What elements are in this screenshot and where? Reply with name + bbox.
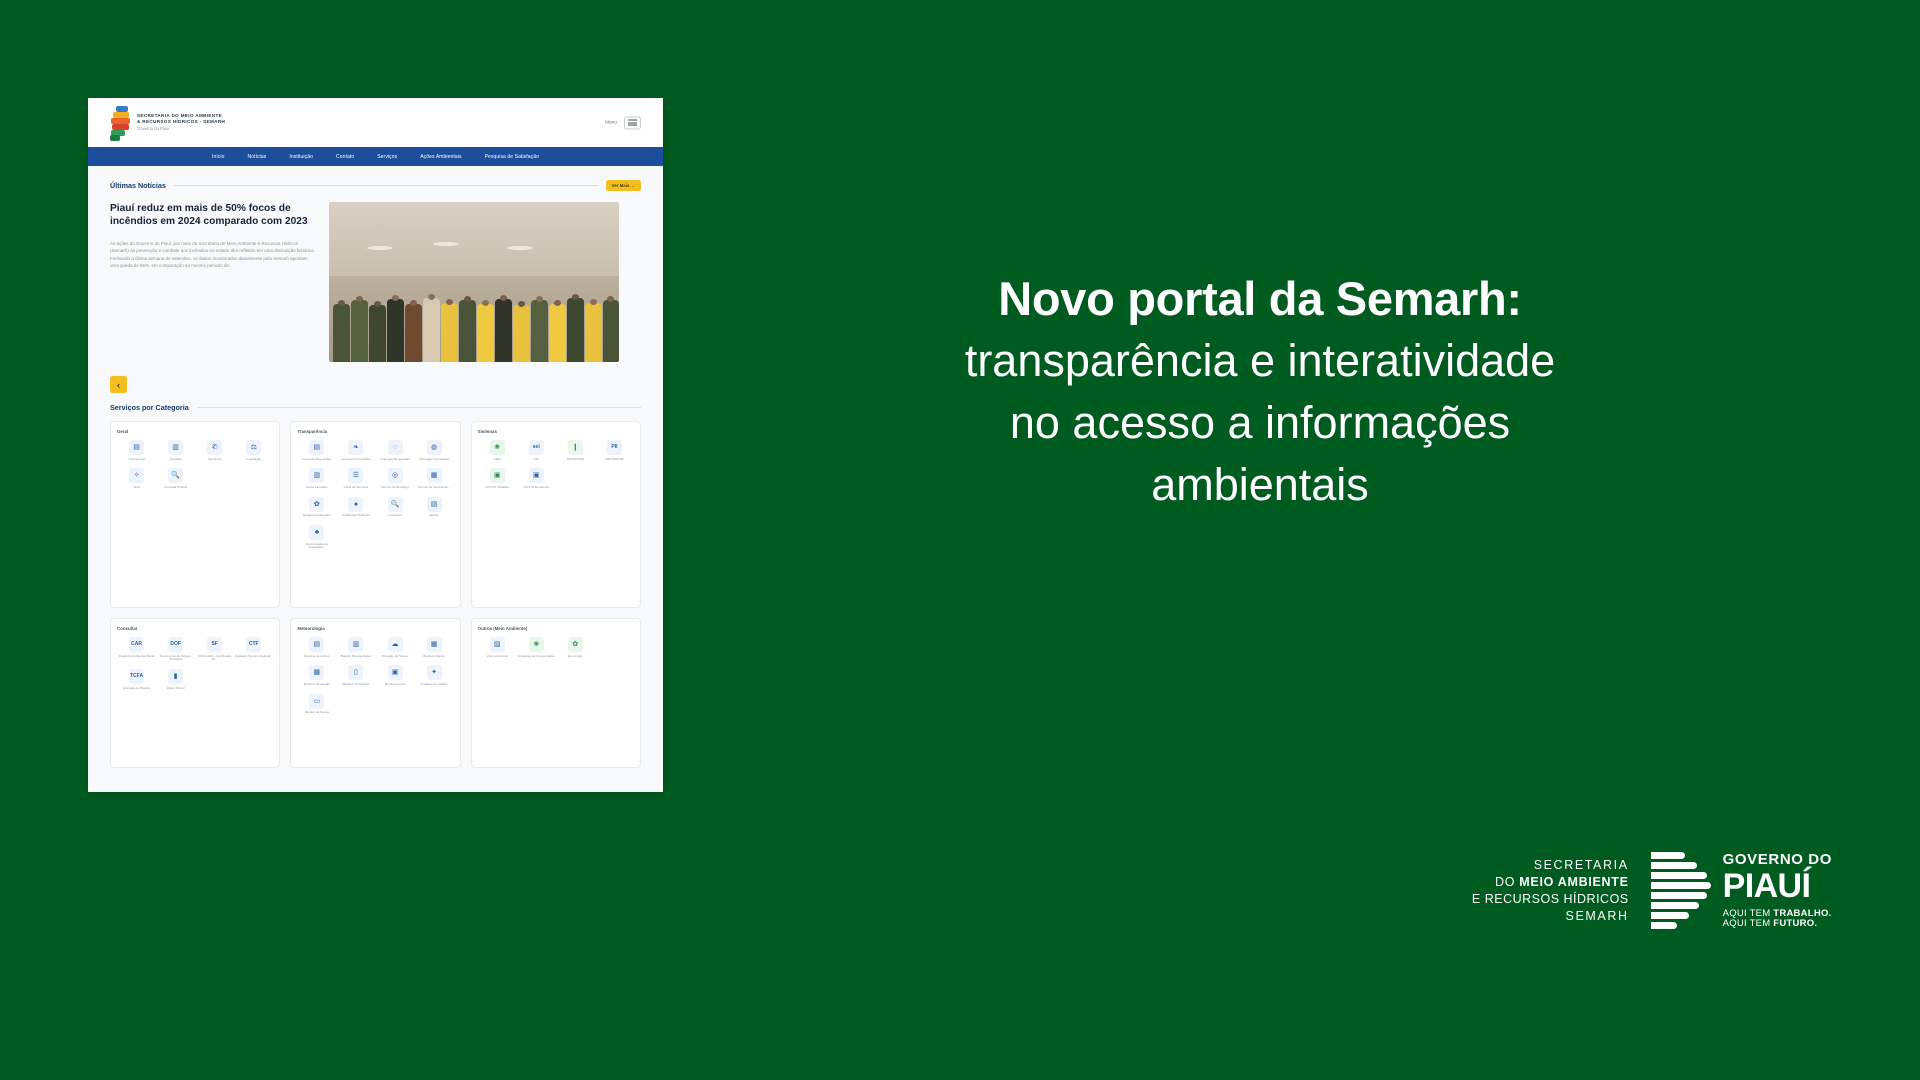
- tcfa-icon: TCFA: [129, 669, 144, 684]
- service-label: Diário Oficial: [156, 687, 195, 691]
- service-label: Licenças Requeridas: [297, 458, 336, 462]
- nav-item-pesquisa-satisfacao[interactable]: Pesquisa de Satisfação: [485, 154, 539, 160]
- service-label: Licitações: [375, 514, 414, 518]
- service-item[interactable]: ▯Boletins Trimestrais: [336, 665, 375, 686]
- car-icon: CAR: [129, 637, 144, 652]
- nav-item-inicio[interactable]: Início: [212, 154, 225, 160]
- nav-item-instituicao[interactable]: Instituição: [289, 154, 313, 160]
- gov-citizen-icon: ▣: [490, 468, 505, 483]
- services-section-title: Serviços por Categoria: [110, 403, 189, 412]
- map-icon: ▨: [490, 637, 505, 652]
- news-photo-crowd: [329, 269, 619, 362]
- category-title: Transparência: [297, 429, 453, 434]
- service-label: Zolo Ambiental: [478, 655, 517, 659]
- service-label: Estudos Ambientais: [297, 514, 336, 518]
- calendar-icon: ▦: [427, 637, 442, 652]
- category-title: Consultar: [117, 626, 273, 631]
- eco-friend-icon: ✿: [568, 637, 583, 652]
- service-list: ▤Licenças Requeridas ❧Licenças Concedida…: [297, 440, 453, 557]
- gov-line-4-bold: FUTURO.: [1773, 918, 1817, 929]
- service-label: Imagens de satélite: [415, 683, 454, 687]
- globe-icon: ✿: [309, 497, 324, 512]
- service-label: Outorgas Concedidas: [415, 458, 454, 462]
- service-label: Audiências Públicas: [336, 514, 375, 518]
- news-excerpt: As ações do Governo do Piauí, por meio d…: [110, 240, 315, 269]
- service-item[interactable]: ▤Editais: [415, 497, 454, 518]
- list-icon: ☰: [348, 468, 363, 483]
- services-row-1: Geral ▤Institucional ▥Notícias ✆Ouvidori…: [110, 421, 641, 608]
- monitor-icon: ▣: [388, 665, 403, 680]
- service-label: Legislação: [234, 458, 273, 462]
- headline-line-1: Novo portal da Semarh:: [700, 268, 1820, 330]
- headline-line-2: transparência e interatividade: [700, 330, 1820, 392]
- service-label: Carta de Serviços: [336, 486, 375, 490]
- service-list: ▤Institucional ▥Notícias ✆Ouvidoria ⚖Leg…: [117, 440, 273, 497]
- site-brand[interactable]: SECRETARIA DO MEIO AMBIENTE & RECURSOS H…: [110, 106, 225, 140]
- calendar-week-icon: ▦: [309, 665, 324, 680]
- service-label: Monitoramento: [375, 683, 414, 687]
- service-item[interactable]: ▮Diário Oficial: [156, 669, 195, 690]
- cloud-icon: ☁: [388, 637, 403, 652]
- service-item[interactable]: 🔍Licitações: [375, 497, 414, 518]
- see-more-button[interactable]: Ver Mais →: [606, 180, 641, 191]
- service-item[interactable]: ◌Outorgas Requeridas: [375, 440, 414, 461]
- news-headline[interactable]: Piauí reduz em mais de 50% focos de incê…: [110, 202, 315, 228]
- drought-monitor-icon: ▭: [309, 694, 324, 709]
- building-icon: ▤: [129, 440, 144, 455]
- service-item[interactable]: ✆Ouvidoria: [195, 440, 234, 461]
- report-icon: ▥: [309, 468, 324, 483]
- sf-icon: SF: [207, 637, 222, 652]
- ctf-icon: CTF: [246, 637, 261, 652]
- service-label: Cadastro Técnico Federal...: [234, 655, 273, 659]
- service-item[interactable]: ▣GOV PI Cidadão: [478, 468, 517, 489]
- services-by-category-section: Serviços por Categoria Geral ▤Institucio…: [88, 393, 663, 768]
- service-item[interactable]: TCFAEmissão de Boletos: [117, 669, 156, 690]
- site-header: SECRETARIA DO MEIO AMBIENTE & RECURSOS H…: [88, 98, 663, 147]
- service-label: Boletins Semanais: [297, 683, 336, 687]
- service-label: Documento de Origem Florestal: [156, 655, 195, 663]
- divider: [174, 185, 598, 186]
- service-label: Ouvidoria: [195, 458, 234, 462]
- semarh-line-4: SEMARH: [1472, 908, 1629, 925]
- nav-item-noticias[interactable]: Notícias: [248, 154, 267, 160]
- service-item[interactable]: ❧Licenças Concedidas: [336, 440, 375, 461]
- service-item[interactable]: ▥Notícias: [156, 440, 195, 461]
- category-card-transparencia: Transparência ▤Licenças Requeridas ❧Lice…: [290, 421, 460, 608]
- service-item[interactable]: ☁Previsão do Tempo: [375, 637, 414, 658]
- service-label: Eco Amigo: [556, 655, 595, 659]
- satellite-icon: ✦: [427, 665, 442, 680]
- headline-line-3: no acesso a informações: [700, 392, 1820, 454]
- gov-line-4-light: AQUI TEM: [1723, 918, 1774, 929]
- service-item[interactable]: SFSISFLORA - Certificado de...: [195, 637, 234, 662]
- governo-do-piaui-logo: GOVERNO DO PIAUÍ AQUI TEM TRABALHO. AQUI…: [1651, 852, 1832, 930]
- thermometer-icon: ▯: [348, 665, 363, 680]
- nav-item-servicos[interactable]: Serviços: [377, 154, 397, 160]
- service-label: Unidades de Conservação: [517, 655, 556, 659]
- category-card-sistemas: Sistemas ❀SIEA seiSEI ❙SIGA/FUDE PIIPROG…: [471, 421, 641, 608]
- service-item[interactable]: ♠Audiências Públicas: [336, 497, 375, 518]
- service-label: GOV PI Empresas: [517, 486, 556, 490]
- category-title: Geral: [117, 429, 273, 434]
- service-label: SISFLORA - Certificado de...: [195, 655, 234, 663]
- service-label: Licenças Concedidas: [336, 458, 375, 462]
- services-row-2: Consultar CARCadastro Ambiental Rural DO…: [110, 618, 641, 768]
- service-item[interactable]: ❀SIEA: [478, 440, 517, 461]
- service-item[interactable]: ❀Unidades de Conservação: [517, 637, 556, 658]
- service-label: Consulta Pública: [156, 486, 195, 490]
- service-item[interactable]: ◎Termos de Embargo: [375, 468, 414, 489]
- service-list: CARCadastro Ambiental Rural DOFDocumento…: [117, 637, 273, 698]
- service-item[interactable]: 🔍Consulta Pública: [156, 468, 195, 489]
- service-item[interactable]: CARCadastro Ambiental Rural: [117, 637, 156, 662]
- service-item[interactable]: ▨Zolo Ambiental: [478, 637, 517, 658]
- phone-icon: ✆: [207, 440, 222, 455]
- service-label: Emissão de Boletos: [117, 687, 156, 691]
- service-item[interactable]: seiSEI: [517, 440, 556, 461]
- water-drop-icon: ◌: [388, 440, 403, 455]
- service-item[interactable]: ▤Institucional: [117, 440, 156, 461]
- service-label: Notícias: [156, 458, 195, 462]
- document-icon: ▤: [309, 440, 324, 455]
- service-label: Autos Lavrados: [297, 486, 336, 490]
- menu-toggle[interactable]: Menu: [605, 116, 641, 129]
- gov-line-2: PIAUÍ: [1723, 868, 1832, 905]
- leaf-icon: ❧: [348, 440, 363, 455]
- service-label: Boletim Meteorológico: [336, 655, 375, 659]
- service-item[interactable]: ▭Monitor de Secas: [297, 694, 336, 715]
- gov-line-1: GOVERNO DO: [1723, 852, 1832, 868]
- service-item[interactable]: ▥Boletim Meteorológico: [336, 637, 375, 658]
- service-item[interactable]: ▤Boletins de Avisos: [297, 637, 336, 658]
- news-photo: [329, 202, 619, 362]
- brand-line-3: Governo do Piauí: [137, 126, 225, 131]
- service-item[interactable]: ◍Outorgas Concedidas: [415, 440, 454, 461]
- service-label: Boletins de Avisos: [297, 655, 336, 659]
- nav-item-contato[interactable]: Contato: [336, 154, 354, 160]
- headline-line-4: ambientais: [700, 454, 1820, 516]
- semarh-line-2-light: DO: [1495, 875, 1519, 889]
- service-item[interactable]: ⚖Legislação: [234, 440, 273, 461]
- latest-news-title: Últimas Notícias: [110, 181, 166, 190]
- divider: [197, 407, 641, 408]
- gavel-icon: 🔍: [388, 497, 403, 512]
- site-navbar: Início Notícias Instituição Contato Serv…: [88, 147, 663, 166]
- siea-icon: ❀: [490, 440, 505, 455]
- piaui-wave-icon: [1651, 852, 1711, 930]
- portal-screenshot-mockup: SECRETARIA DO MEIO AMBIENTE & RECURSOS H…: [88, 98, 663, 792]
- service-item[interactable]: ▤Licenças Requeridas: [297, 440, 336, 461]
- news-icon: ▥: [168, 440, 183, 455]
- service-label: Boletins Trimestrais: [336, 683, 375, 687]
- service-label: Denunciação de Queimada...: [297, 543, 336, 551]
- service-list: ▨Zolo Ambiental ❀Unidades de Conservação…: [478, 637, 634, 665]
- hamburger-icon[interactable]: [624, 116, 641, 129]
- service-label: Termos de Guarda de...: [415, 486, 454, 490]
- category-title: Sistemas: [478, 429, 634, 434]
- service-item[interactable]: DOFDocumento de Origem Florestal: [156, 637, 195, 662]
- service-item[interactable]: ▦Boletins Diários: [415, 637, 454, 658]
- service-item[interactable]: ✧Taxa: [117, 468, 156, 489]
- service-label: PROGREDIR: [595, 458, 634, 462]
- piaui-state-logo-icon: [110, 106, 130, 140]
- promo-headline: Novo portal da Semarh: transparência e i…: [700, 268, 1820, 516]
- service-item[interactable]: ▦Boletins Semanais: [297, 665, 336, 686]
- service-item[interactable]: ☰Carta de Serviços: [336, 468, 375, 489]
- service-item[interactable]: ❙SIGA/FUDE: [556, 440, 595, 461]
- warning-icon: ▤: [309, 637, 324, 652]
- service-list: ❀SIEA seiSEI ❙SIGA/FUDE PIIPROGREDIR ▣GO…: [478, 440, 634, 497]
- service-label: Monitor de Secas: [297, 711, 336, 715]
- conservation-icon: ❀: [529, 637, 544, 652]
- law-icon: ⚖: [246, 440, 261, 455]
- service-label: Termos de Embargo: [375, 486, 414, 490]
- category-title: Meteorologia: [297, 626, 453, 631]
- service-label: Previsão do Tempo: [375, 655, 414, 659]
- service-label: SEI: [517, 458, 556, 462]
- semarh-line-1: SECRETARIA: [1472, 857, 1629, 874]
- category-card-consultar: Consultar CARCadastro Ambiental Rural DO…: [110, 618, 280, 768]
- nav-item-acoes-ambientais[interactable]: Ações Ambientais: [420, 154, 461, 160]
- service-label: Taxa: [117, 486, 156, 490]
- seal-icon: ◎: [388, 468, 403, 483]
- progredir-icon: PII: [607, 440, 622, 455]
- service-item[interactable]: ✿Estudos Ambientais: [297, 497, 336, 518]
- service-item[interactable]: ▦Termos de Guarda de...: [415, 468, 454, 489]
- service-label: Institucional: [117, 458, 156, 462]
- service-item[interactable]: ▥Autos Lavrados: [297, 468, 336, 489]
- service-label: SIEA: [478, 458, 517, 462]
- drop-check-icon: ◍: [427, 440, 442, 455]
- menu-label: Menu: [605, 120, 617, 125]
- brand-line-2: & RECURSOS HÍDRICOS - SEMARH: [137, 119, 225, 125]
- service-item[interactable]: PIIPROGREDIR: [595, 440, 634, 461]
- service-label: Editais: [415, 514, 454, 518]
- tax-icon: ✧: [129, 468, 144, 483]
- clipboard-icon: ▦: [427, 468, 442, 483]
- category-card-meteorologia: Meteorologia ▤Boletins de Avisos ▥Boleti…: [290, 618, 460, 768]
- search-icon: 🔍: [168, 468, 183, 483]
- people-icon: ♠: [348, 497, 363, 512]
- service-item[interactable]: ▣GOV PI Empresas: [517, 468, 556, 489]
- service-item[interactable]: CTFCadastro Técnico Federal...: [234, 637, 273, 662]
- service-label: SIGA/FUDE: [556, 458, 595, 462]
- news-prev-button[interactable]: ‹: [110, 376, 127, 393]
- bulletin-icon: ▥: [348, 637, 363, 652]
- sei-icon: sei: [529, 440, 544, 455]
- gov-company-icon: ▣: [529, 468, 544, 483]
- file-icon: ▤: [427, 497, 442, 512]
- latest-news-section: Últimas Notícias Ver Mais → Piauí reduz …: [88, 166, 663, 393]
- dof-icon: DOF: [168, 637, 183, 652]
- service-label: Cadastro Ambiental Rural: [117, 655, 156, 659]
- fire-alert-icon: ♣: [309, 525, 324, 540]
- semarh-line-2-bold: MEIO AMBIENTE: [1519, 875, 1628, 889]
- semarh-line-3: E RECURSOS HÍDRICOS: [1472, 891, 1629, 908]
- semarh-line-2: DO MEIO AMBIENTE: [1472, 874, 1629, 891]
- official-gazette-icon: ▮: [168, 669, 183, 684]
- siga-icon: ❙: [568, 440, 583, 455]
- gov-line-4: AQUI TEM FUTURO.: [1723, 919, 1832, 929]
- category-card-geral: Geral ▤Institucional ▥Notícias ✆Ouvidori…: [110, 421, 280, 608]
- category-card-outros: Outros (Meio Ambiente) ▨Zolo Ambiental ❀…: [471, 618, 641, 768]
- logo-lockup: SECRETARIA DO MEIO AMBIENTE E RECURSOS H…: [1472, 852, 1832, 930]
- service-list: ▤Boletins de Avisos ▥Boletim Meteorológi…: [297, 637, 453, 722]
- service-item[interactable]: ♣Denunciação de Queimada...: [297, 525, 336, 550]
- service-item[interactable]: ▣Monitoramento: [375, 665, 414, 686]
- service-label: Boletins Diários: [415, 655, 454, 659]
- service-item[interactable]: ✦Imagens de satélite: [415, 665, 454, 686]
- service-label: GOV PI Cidadão: [478, 486, 517, 490]
- category-title: Outros (Meio Ambiente): [478, 626, 634, 631]
- semarh-logo: SECRETARIA DO MEIO AMBIENTE E RECURSOS H…: [1472, 857, 1629, 925]
- service-item[interactable]: ✿Eco Amigo: [556, 637, 595, 658]
- service-label: Outorgas Requeridas: [375, 458, 414, 462]
